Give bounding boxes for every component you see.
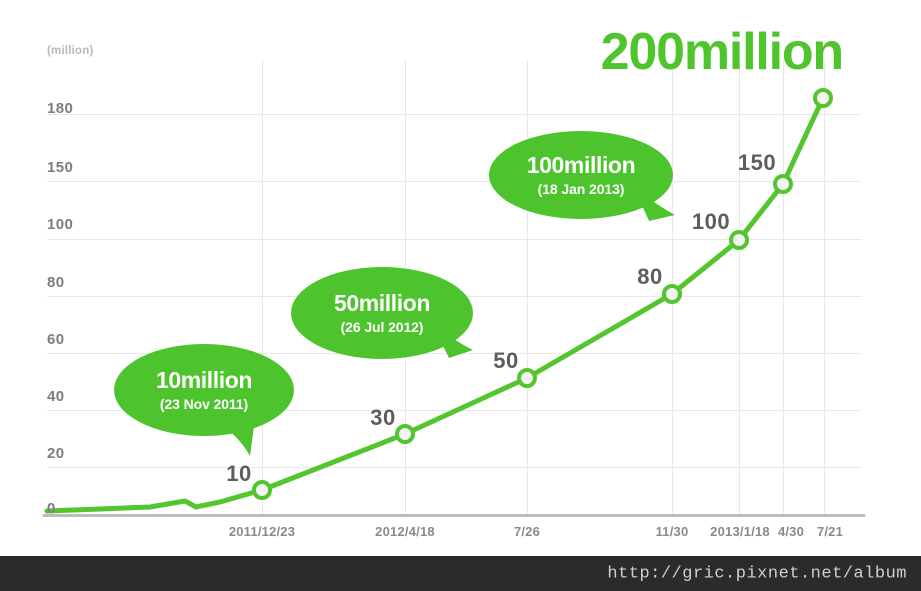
y-tick-80: 80	[47, 274, 65, 291]
callout-tail-icon	[431, 322, 477, 366]
x-tick-4-30: 4/30	[778, 524, 804, 539]
point-label-80: 80	[637, 264, 662, 290]
point-label-10: 10	[226, 461, 251, 487]
footer-url-bar: http://gric.pixnet.net/album	[0, 556, 921, 591]
callout-title: 10million	[156, 368, 252, 392]
y-tick-40: 40	[47, 388, 65, 405]
callout-title: 100million	[527, 153, 636, 177]
x-tick-2011-12-23: 2011/12/23	[229, 524, 295, 539]
x-tick-7-21: 7/21	[817, 524, 843, 539]
callout-tail-icon	[214, 416, 258, 460]
point-label-100: 100	[692, 209, 730, 235]
x-tick-2013-1-18: 2013/1/18	[710, 524, 770, 539]
y-tick-0: 0	[47, 500, 56, 517]
footer-url-text: http://gric.pixnet.net/album	[607, 564, 907, 583]
callout-bubble-50million: 50million (26 Jul 2012)	[291, 267, 473, 359]
point-label-150: 150	[738, 150, 776, 176]
headline-200million: 200million	[601, 26, 843, 78]
y-tick-180: 180	[47, 100, 73, 117]
y-tick-60: 60	[47, 331, 65, 348]
callout-bubble-body: 10million (23 Nov 2011)	[114, 344, 294, 436]
callout-date: (18 Jan 2013)	[538, 181, 625, 197]
y-tick-20: 20	[47, 445, 65, 462]
x-tick-7-26: 7/26	[514, 524, 540, 539]
y-tick-100: 100	[47, 216, 73, 233]
callout-bubble-10million: 10million (23 Nov 2011)	[114, 344, 294, 436]
callout-date: (23 Nov 2011)	[160, 396, 248, 412]
callout-bubble-100million: 100million (18 Jan 2013)	[489, 131, 673, 219]
chart-screenshot: (million) 180 150 100 80 60 40 20 0 2011…	[0, 0, 921, 591]
point-label-50: 50	[493, 348, 518, 374]
y-axis-unit-label: (million)	[47, 45, 94, 57]
y-tick-150: 150	[47, 159, 73, 176]
x-tick-11-30: 11/30	[656, 524, 689, 539]
x-tick-2012-4-18: 2012/4/18	[375, 524, 435, 539]
callout-title: 50million	[334, 291, 430, 315]
point-label-30: 30	[370, 405, 395, 431]
callout-tail-icon	[629, 181, 681, 229]
callout-date: (26 Jul 2012)	[341, 319, 424, 335]
